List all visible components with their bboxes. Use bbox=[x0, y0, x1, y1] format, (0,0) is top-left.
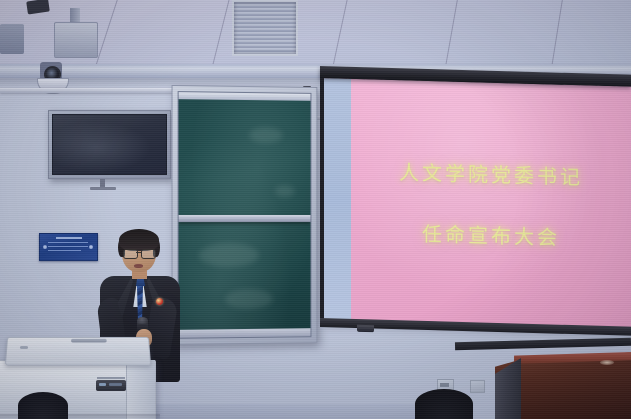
projection-screen: 人文学院党委书记 任命宣布大会 bbox=[320, 74, 631, 331]
wall-mounted-monitor[interactable] bbox=[48, 110, 171, 179]
chalkboard bbox=[172, 85, 318, 345]
presenter-hair bbox=[119, 229, 159, 251]
glasses-lens-left-icon bbox=[123, 249, 138, 259]
air-vent-icon bbox=[232, 0, 298, 56]
junction-box bbox=[0, 24, 24, 54]
lectern-lid-handle[interactable] bbox=[71, 339, 107, 343]
wall-outlet-slot bbox=[440, 383, 449, 387]
presentation-slide: 人文学院党委书记 任命宣布大会 bbox=[351, 79, 631, 331]
screen-left-strip bbox=[324, 78, 351, 323]
chalkboard-chalk-tray bbox=[179, 328, 311, 338]
presenter-mouth bbox=[134, 264, 143, 268]
control-panel-led-b bbox=[109, 383, 122, 386]
projection-screen-weight bbox=[357, 325, 374, 332]
monitor-base bbox=[90, 187, 116, 190]
monitor-screen bbox=[52, 114, 167, 175]
slide-heading-line-2: 任命宣布大会 bbox=[351, 216, 631, 253]
plaque-title-bar bbox=[56, 237, 82, 239]
lectern-panel-trim bbox=[97, 377, 125, 379]
plaque-screw-left bbox=[43, 245, 47, 249]
slide-heading-line-1: 人文学院党委书记 bbox=[351, 155, 631, 192]
glasses-lens-right-icon bbox=[141, 249, 156, 259]
glasses-bridge-icon bbox=[136, 252, 141, 253]
chalkboard-surface bbox=[178, 91, 312, 339]
wall-notice-plaque bbox=[39, 233, 98, 261]
control-panel-led-a bbox=[99, 383, 106, 386]
lectern-lid-hinge bbox=[20, 346, 28, 349]
lectern-lid[interactable] bbox=[5, 337, 151, 366]
junction-box-secondary bbox=[54, 22, 98, 58]
wall-outlet-secondary-icon[interactable] bbox=[470, 380, 485, 393]
audience-head-right bbox=[415, 389, 473, 419]
audience-head-left bbox=[18, 392, 68, 419]
microphone-grille-icon bbox=[137, 317, 148, 324]
chalkboard-top-rail bbox=[179, 92, 311, 101]
screenshot-root: 人文学院党委书记 任命宣布大会 西南交通大学 bbox=[0, 0, 631, 419]
chalkboard-middle-rail bbox=[179, 215, 311, 222]
lapel-badge bbox=[156, 298, 163, 305]
desk-highlight bbox=[600, 360, 614, 365]
projection-screen-canvas: 人文学院党委书记 任命宣布大会 bbox=[324, 78, 631, 331]
lectern-side-panel bbox=[126, 360, 155, 419]
